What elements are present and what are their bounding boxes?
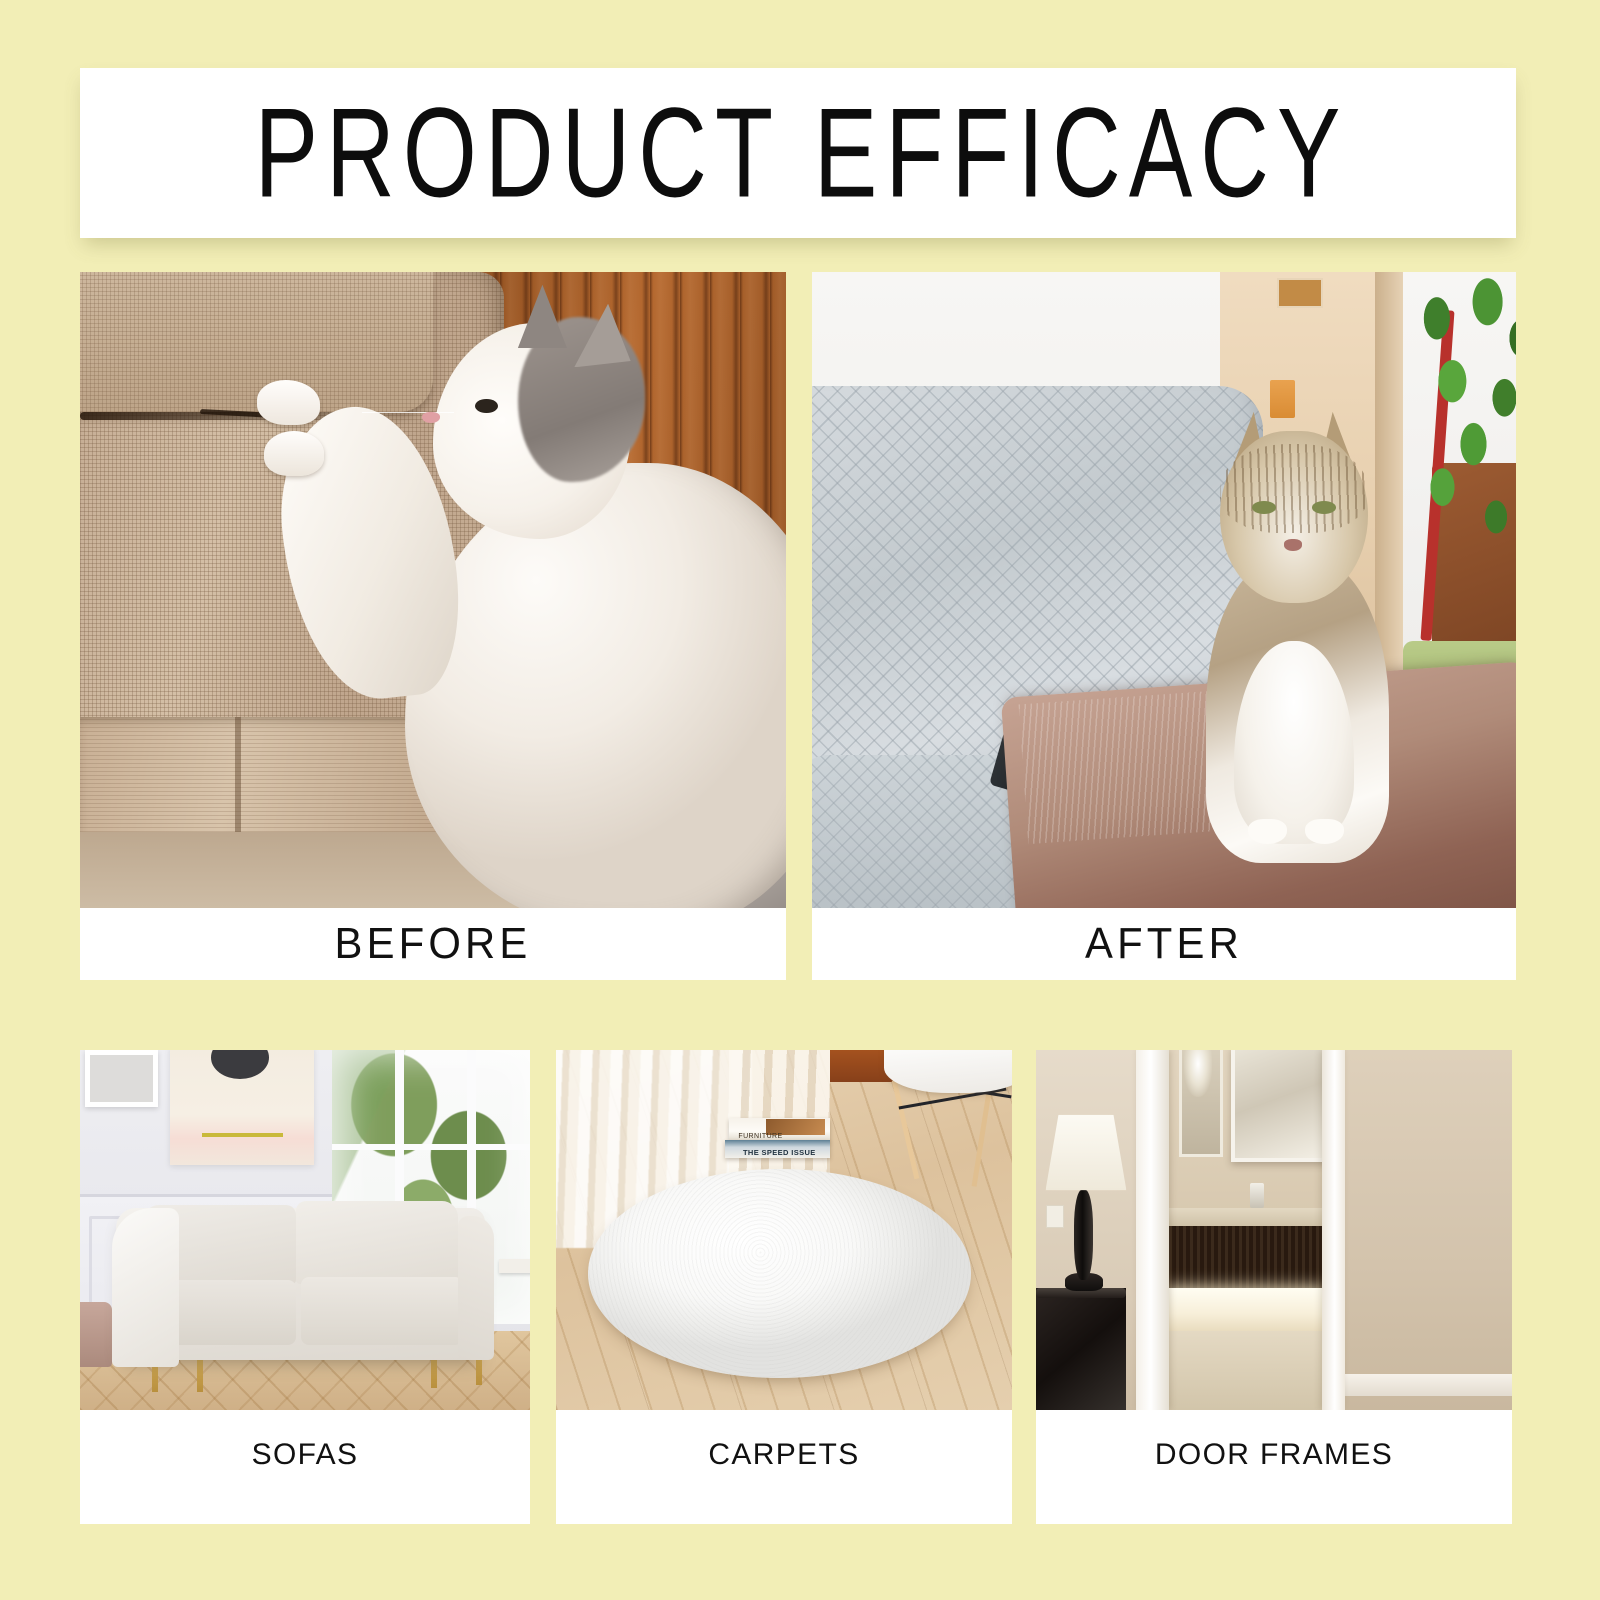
carpets-label: CARPETS [708, 1438, 859, 1472]
door-frame-left [1136, 1050, 1169, 1410]
after-scene [812, 272, 1516, 908]
cat-scratching-sofa-photo [80, 272, 786, 908]
after-label: AFTER [1085, 919, 1243, 969]
bathroom-floor [1169, 1331, 1321, 1410]
cat-eye-left [1252, 501, 1276, 514]
sofa-top-cushion [80, 272, 433, 412]
sofas-scene [80, 1050, 530, 1410]
cat-paw-lower [264, 431, 324, 476]
sofa-seat-cushion [301, 1277, 463, 1345]
sofas-label-band: SOFAS [80, 1410, 530, 1524]
ottoman [80, 1302, 112, 1367]
door-frames-label-band: DOOR FRAMES [1036, 1410, 1512, 1524]
carpets-scene: FURNITURE THE SPEED ISSUE [556, 1050, 1012, 1410]
cat-nose [1284, 539, 1302, 550]
backlit-onyx-bench [1169, 1288, 1321, 1331]
book-bottom-title: THE SPEED ISSUE [743, 1148, 816, 1157]
sofas-card: SOFAS [80, 1050, 530, 1524]
before-label-band: BEFORE [98, 908, 769, 980]
side-table [499, 1259, 531, 1273]
door-frames-label: DOOR FRAMES [1155, 1438, 1393, 1472]
sofas-label: SOFAS [252, 1438, 359, 1472]
crystal-chandelier [1184, 1050, 1213, 1097]
carpets-card: FURNITURE THE SPEED ISSUE CARPETS [556, 1050, 1012, 1524]
infographic-canvas: PRODUCT EFFICACY [0, 0, 1600, 1600]
door-frame [1375, 272, 1403, 692]
wall-outlet [1046, 1205, 1064, 1229]
sofa-arm-left [112, 1208, 180, 1366]
artwork-yellow-line [202, 1133, 283, 1137]
sofa-back-cushion [296, 1201, 458, 1284]
cat-sitting-on-protected-sofa-photo [812, 272, 1516, 908]
carpets-label-band: CARPETS [556, 1410, 1012, 1524]
white-door-frame-bathroom-photo [1036, 1050, 1512, 1410]
title-card: PRODUCT EFFICACY [80, 68, 1516, 238]
sofa-arm-right [458, 1216, 494, 1360]
rug-pile-texture [588, 1169, 971, 1378]
dark-wood-panel [1169, 1226, 1321, 1287]
book-top-title: FURNITURE [738, 1133, 782, 1140]
black-nightstand [1036, 1288, 1126, 1410]
houseplant-foliage [1403, 272, 1516, 603]
before-card: BEFORE [80, 272, 786, 980]
door-frames-scene [1036, 1050, 1512, 1410]
baseboard [1341, 1374, 1512, 1396]
window-transom [332, 1144, 530, 1150]
before-label: BEFORE [335, 919, 532, 969]
cat-paw-right [1305, 819, 1344, 844]
before-scene [80, 272, 786, 908]
door-frames-card: DOOR FRAMES [1036, 1050, 1512, 1524]
lamp-shade [1046, 1115, 1127, 1191]
right-wall [1341, 1050, 1512, 1410]
light-switch [1270, 380, 1295, 418]
bathroom-mirror [1231, 1050, 1334, 1162]
wall-picture [1277, 278, 1323, 307]
cat-whiskers [362, 412, 454, 414]
after-label-band: AFTER [830, 908, 1499, 980]
door-frame-right [1322, 1050, 1346, 1410]
cat-tabby-stripes [1220, 444, 1368, 533]
cat-paw-upper [257, 380, 321, 425]
sofa-leg [197, 1356, 203, 1392]
cream-sofa-living-room-photo [80, 1050, 530, 1410]
cat-eye-right [1312, 501, 1336, 514]
marble-countertop [1169, 1208, 1321, 1226]
page-title: PRODUCT EFFICACY [247, 89, 1348, 216]
round-white-rug-photo: FURNITURE THE SPEED ISSUE [556, 1050, 1012, 1410]
faucet [1250, 1183, 1264, 1208]
lamp-stem [1074, 1190, 1093, 1280]
after-card: AFTER [812, 272, 1516, 980]
framed-picture [85, 1050, 158, 1107]
